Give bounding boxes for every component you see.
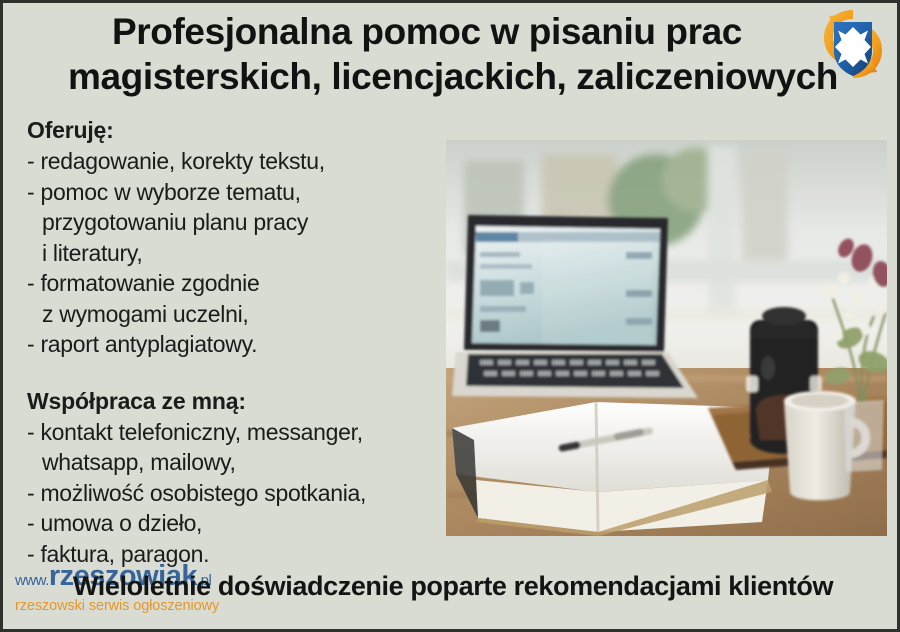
desk-workspace-photo xyxy=(446,140,887,536)
cooperation-item: - faktura, paragon. xyxy=(27,539,437,570)
cooperation-item: - umowa o dzieło, xyxy=(27,508,437,539)
cooperation-heading: Współpraca ze mną: xyxy=(27,386,437,416)
section-spacer xyxy=(27,360,437,386)
advertisement-poster: Profesjonalna pomoc w pisaniu prac magis… xyxy=(0,0,900,632)
cooperation-item: - możliwość osobistego spotkania, xyxy=(27,478,437,509)
cooperation-item: - kontakt telefoniczny, messanger, xyxy=(27,417,437,448)
offer-item: - raport antyplagiatowy. xyxy=(27,329,437,360)
headline-line-2: magisterskich, licencjackich, zaliczenio… xyxy=(3,54,900,99)
tagline: Wieloletnie doświadczenie poparte rekome… xyxy=(3,569,900,603)
offer-item: - redagowanie, korekty tekstu, xyxy=(27,146,437,177)
offer-item: - pomoc w wyborze tematu, xyxy=(27,177,437,208)
cooperation-item: whatsapp, mailowy, xyxy=(27,447,437,478)
offer-item: i literatury, xyxy=(27,238,437,269)
offer-item: - formatowanie zgodnie xyxy=(27,268,437,299)
rzeszowiak-shield-logo-icon xyxy=(819,7,887,81)
headline-line-1: Profesjonalna pomoc w pisaniu prac xyxy=(3,9,900,54)
offer-item: przygotowaniu planu pracy xyxy=(27,207,437,238)
offer-item: z wymogami uczelni, xyxy=(27,299,437,330)
offer-text-column: Oferuję: - redagowanie, korekty tekstu, … xyxy=(27,115,437,569)
page-title: Profesjonalna pomoc w pisaniu prac magis… xyxy=(3,9,900,99)
offer-heading: Oferuję: xyxy=(27,115,437,145)
